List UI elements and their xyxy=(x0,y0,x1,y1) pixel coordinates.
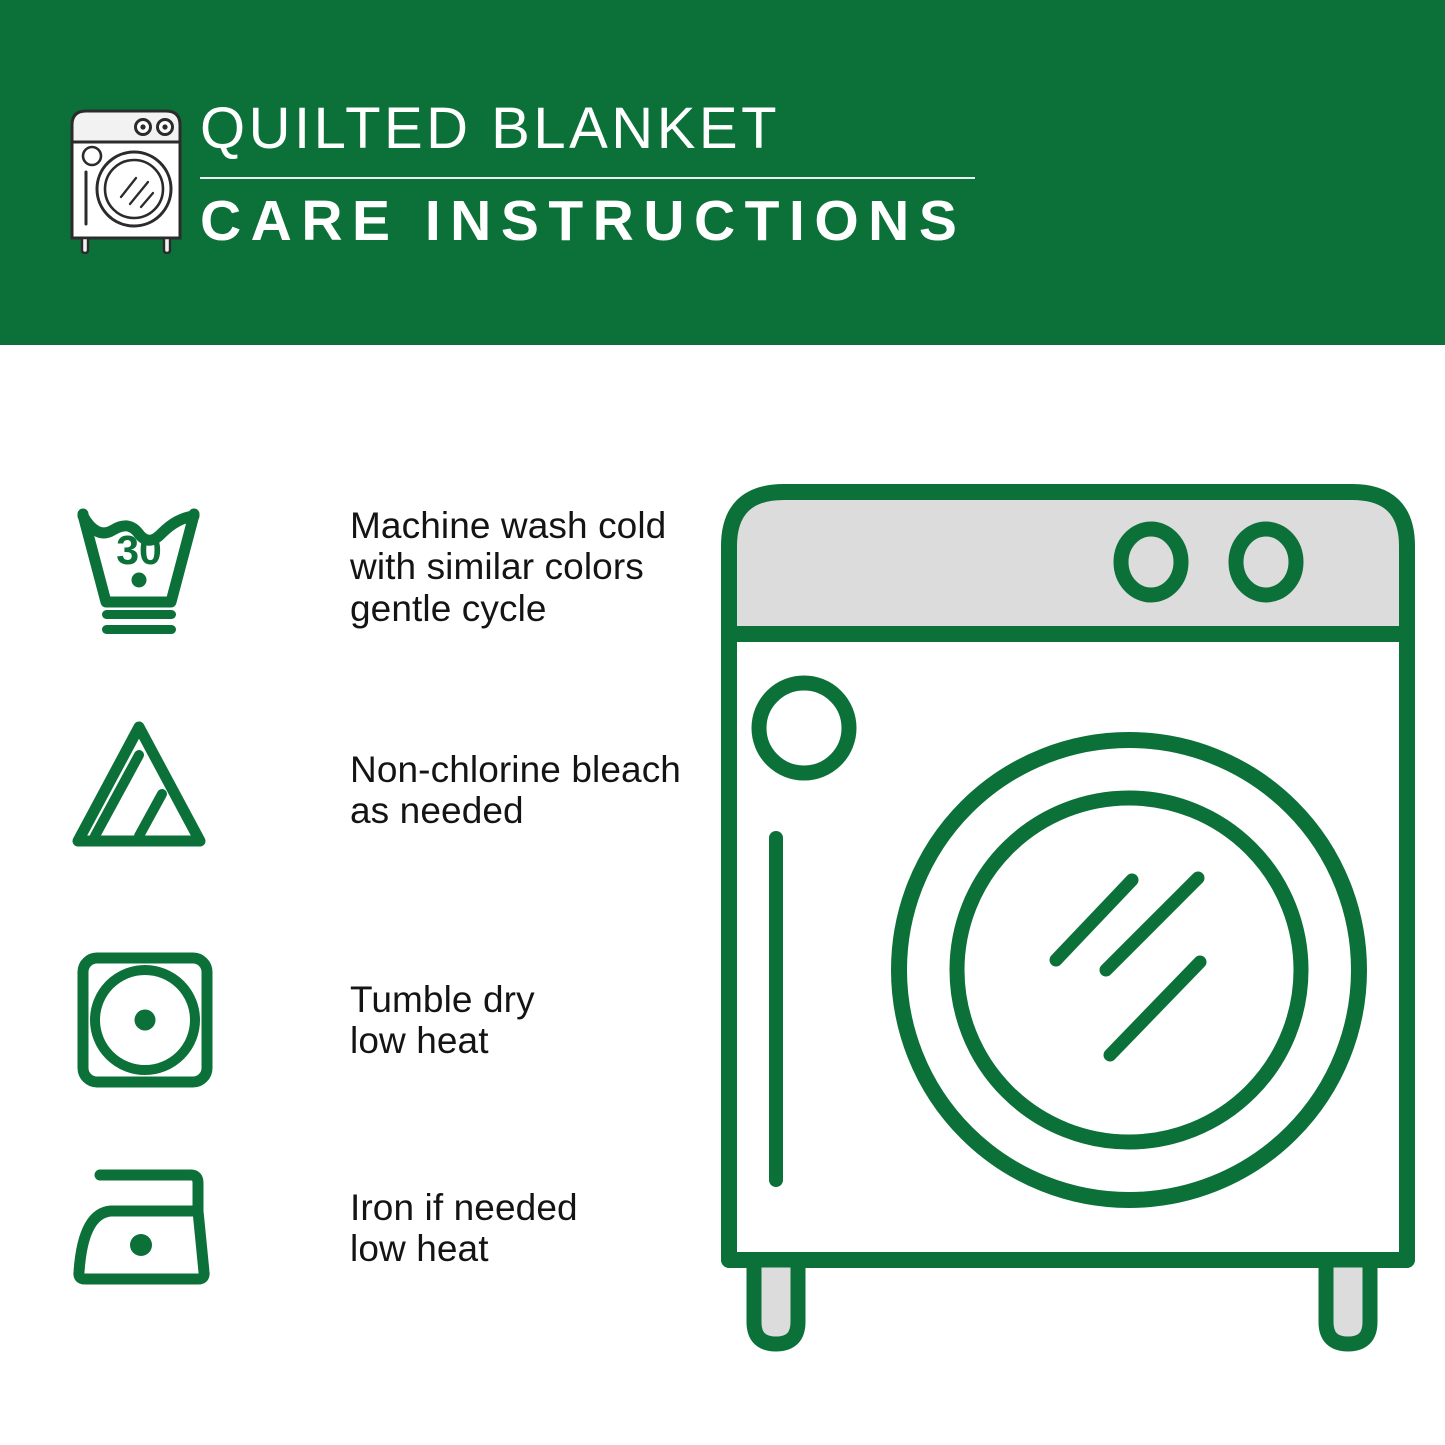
header-banner: QUILTED BLANKET CARE INSTRUCTIONS xyxy=(0,0,1445,345)
care-text-line: Non-chlorine bleach xyxy=(350,749,681,790)
care-text-tumble-dry: Tumble dry low heat xyxy=(350,979,535,1062)
page-title: QUILTED BLANKET xyxy=(200,100,990,158)
title-divider xyxy=(200,177,975,179)
leg-left xyxy=(754,1260,798,1344)
page-subtitle: CARE INSTRUCTIONS xyxy=(200,193,990,250)
care-text-iron: Iron if needed low heat xyxy=(350,1187,578,1270)
care-text-line: with similar colors xyxy=(350,546,666,587)
care-instructions-infographic: QUILTED BLANKET CARE INSTRUCTIONS 30 xyxy=(0,0,1445,1445)
care-text-line: Iron if needed xyxy=(350,1187,578,1228)
non-chlorine-bleach-triangle-icon xyxy=(62,715,232,865)
care-text-line: Machine wash cold xyxy=(350,505,666,546)
wash-temp-label: 30 xyxy=(116,527,162,573)
detergent-knob xyxy=(759,683,849,773)
care-row-wash: 30 Machine wash cold with similar colors… xyxy=(62,492,666,642)
care-text-line: gentle cycle xyxy=(350,588,666,629)
care-text-line: low heat xyxy=(350,1020,535,1061)
leg-right xyxy=(1326,1260,1370,1344)
front-load-washing-machine-illustration xyxy=(718,470,1418,1370)
iron-low-heat-icon xyxy=(62,1153,232,1303)
tumble-dry-low-heat-icon xyxy=(62,945,232,1095)
dial-right xyxy=(1236,529,1296,595)
care-row-iron: Iron if needed low heat xyxy=(62,1153,578,1303)
care-text-wash: Machine wash cold with similar colors ge… xyxy=(350,505,666,629)
door-inner-ring xyxy=(957,798,1301,1142)
care-text-line: low heat xyxy=(350,1228,578,1269)
care-text-line: Tumble dry xyxy=(350,979,535,1020)
wash-tub-30-gentle-icon: 30 xyxy=(62,492,232,642)
care-row-tumble-dry: Tumble dry low heat xyxy=(62,945,535,1095)
care-text-bleach: Non-chlorine bleach as needed xyxy=(350,749,681,832)
dial-left xyxy=(1121,529,1181,595)
washing-machine-logo-icon xyxy=(66,104,186,254)
control-panel xyxy=(729,492,1407,634)
care-row-bleach: Non-chlorine bleach as needed xyxy=(62,715,681,865)
header-text-group: QUILTED BLANKET CARE INSTRUCTIONS xyxy=(200,100,990,250)
care-text-line: as needed xyxy=(350,790,681,831)
